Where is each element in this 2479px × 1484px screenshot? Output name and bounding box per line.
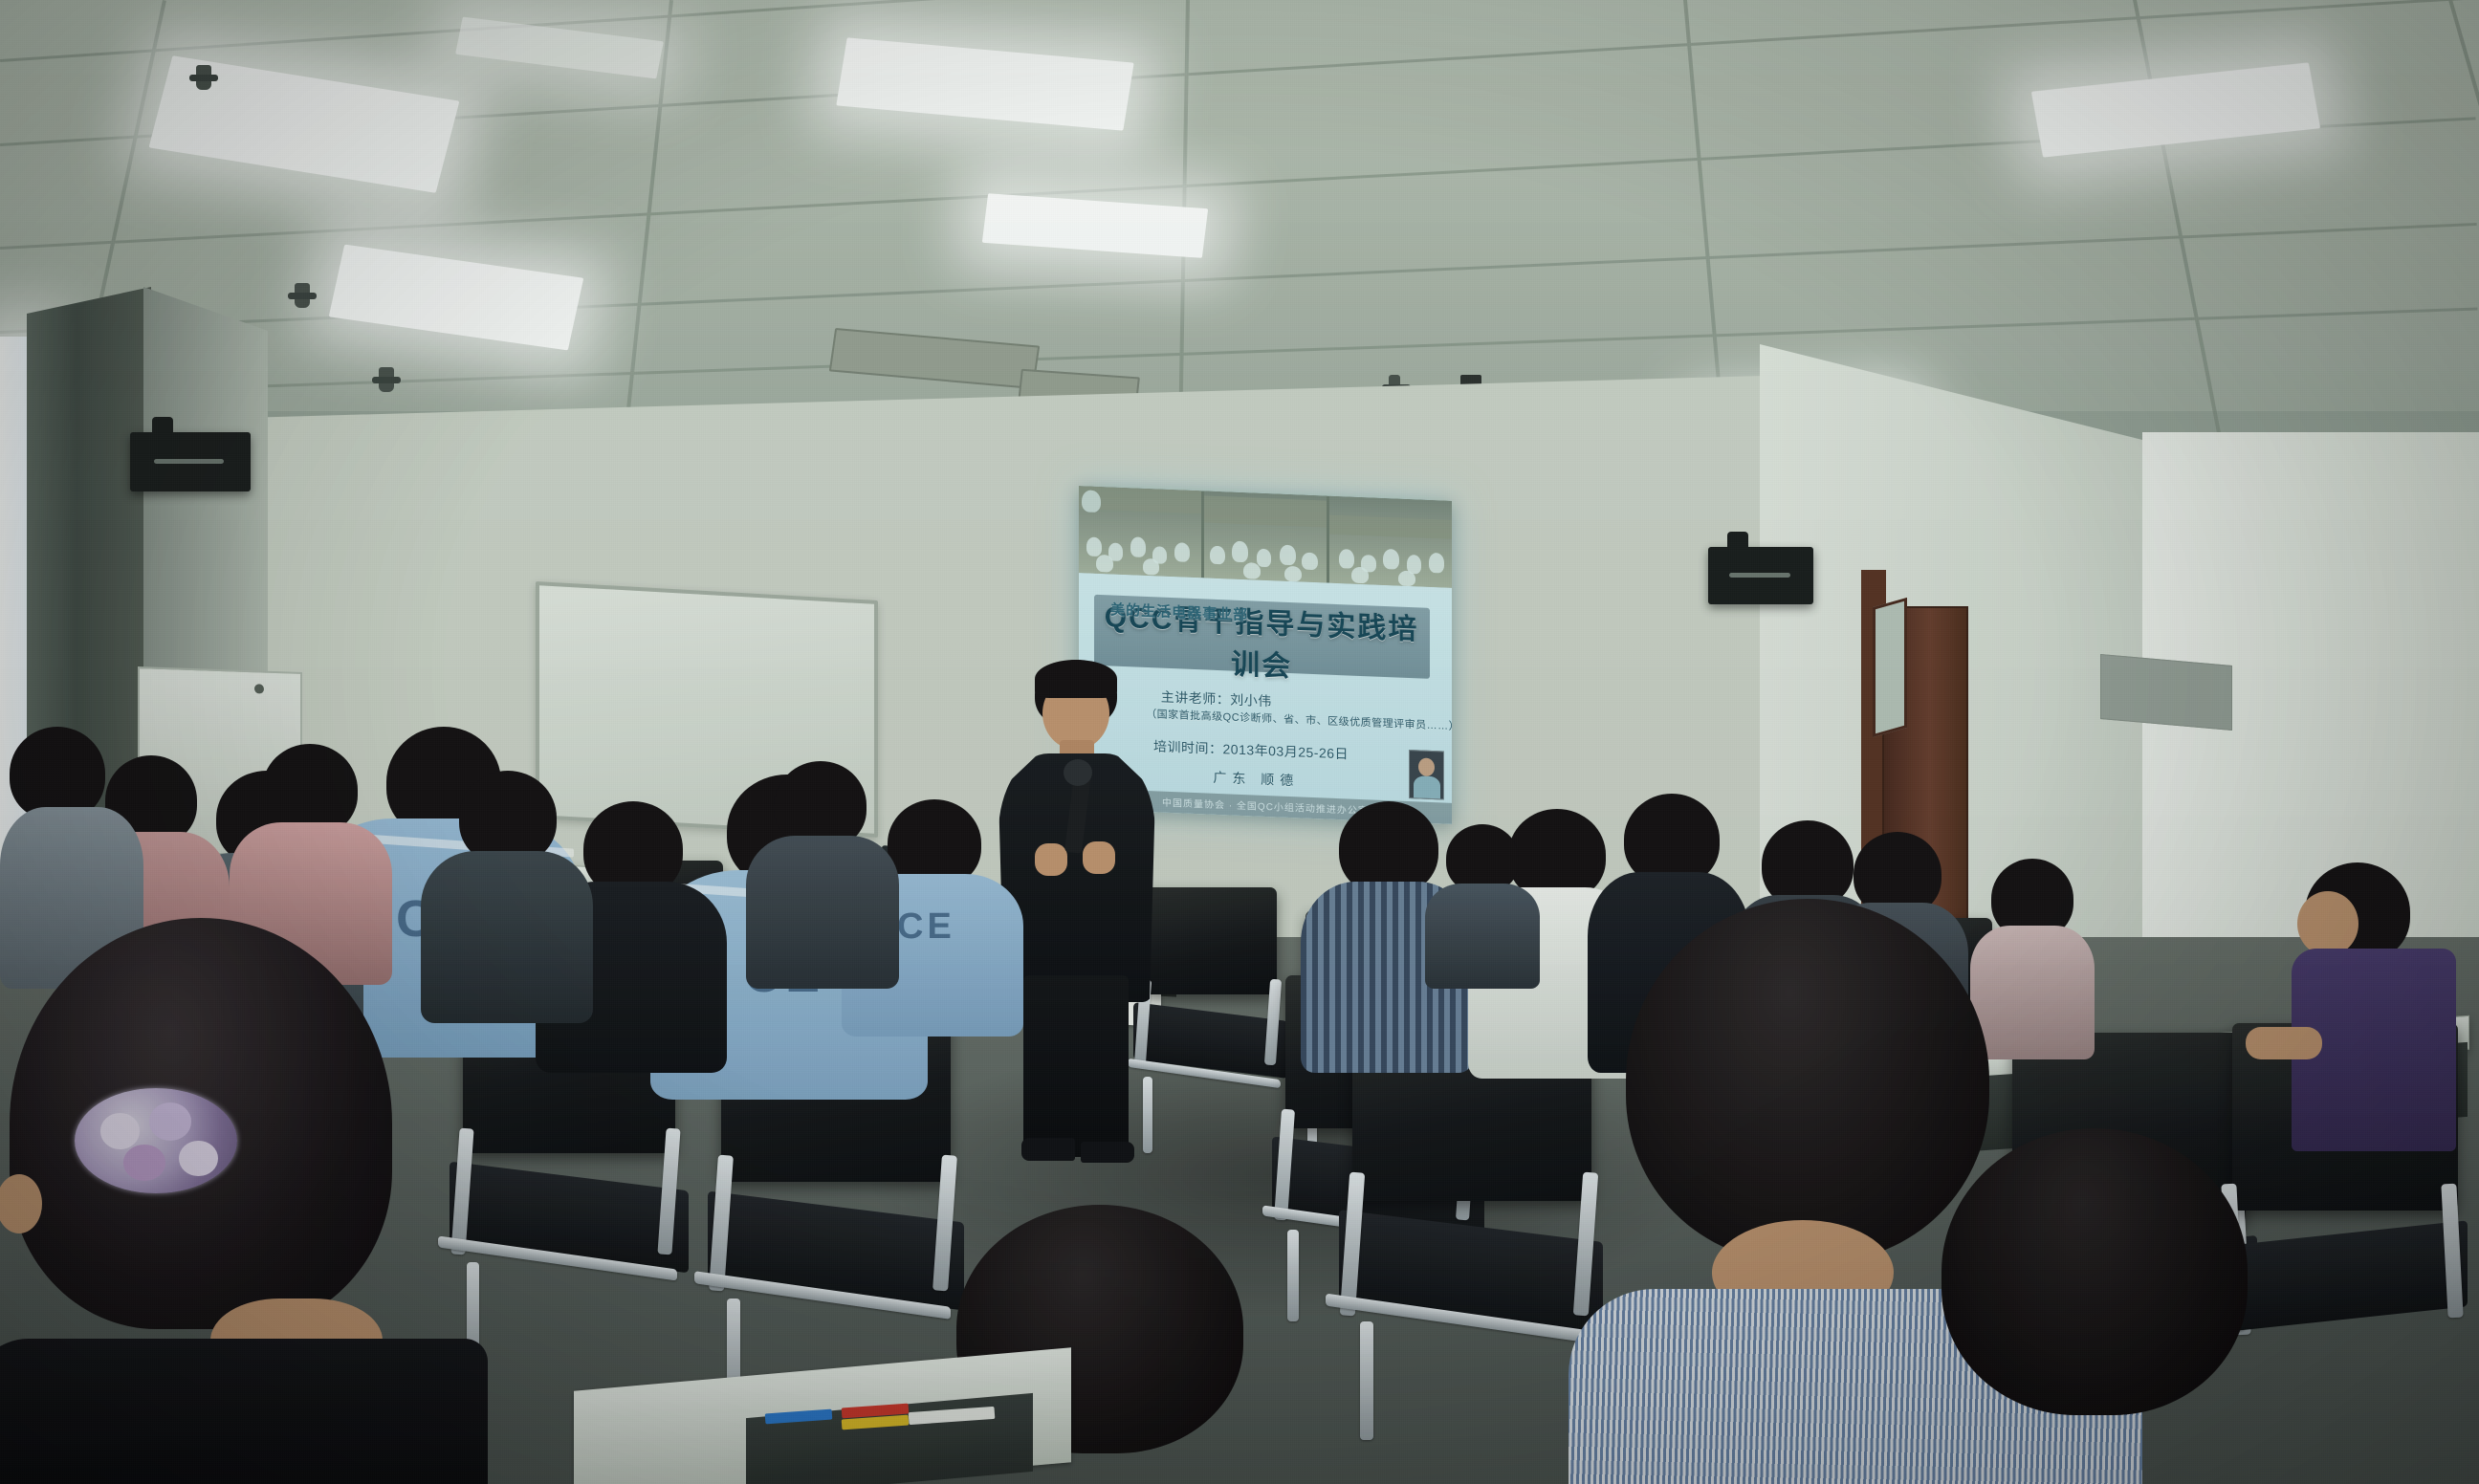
attendee-arm	[2246, 1027, 2322, 1059]
attendee-center-4	[1425, 824, 1540, 977]
door-window	[1873, 598, 1907, 737]
wall-speaker-right	[1708, 547, 1813, 604]
wall-gray-panel	[2100, 654, 2232, 731]
slide-credentials-line: （国家首批高级QC诊断师、省、市、区级优质管理评审员……）	[1146, 706, 1452, 733]
speaker-grille	[154, 459, 224, 464]
attendee-face	[2297, 891, 2358, 956]
slide-location-line: 广东 顺德	[1213, 767, 1299, 790]
slide-photo-3	[1329, 496, 1452, 588]
slide-photo-1	[1079, 486, 1201, 578]
attendee-left-10	[746, 761, 899, 971]
ceiling-tile-grid	[0, 0, 2479, 411]
presenter-hair	[1035, 660, 1117, 698]
microphone-head	[1064, 759, 1092, 786]
slide-speaker-portrait	[1409, 750, 1444, 800]
foreground-head	[1942, 1128, 2248, 1415]
presenter-right-hand	[1083, 841, 1115, 874]
attendee-top	[746, 836, 899, 989]
attendee-far-right-polo	[2292, 862, 2464, 1149]
cabinet-handle[interactable]	[254, 684, 264, 693]
foreground-attendee-woman	[0, 918, 660, 1484]
slide-photo-2	[1204, 491, 1327, 582]
slide-photo-strip	[1079, 486, 1452, 588]
attendee-top	[1425, 884, 1540, 989]
photo-scene: 美的生活电器事业部 QCC骨干指导与实践培训会 主讲老师：刘小伟 （国家首批高级…	[0, 0, 2479, 1484]
slide-date-line: 培训时间：2013年03月25-26日	[1153, 736, 1349, 763]
presenter-shoe	[1081, 1142, 1134, 1163]
sprinkler-head	[379, 367, 394, 392]
foreground-woman-black-top	[0, 1339, 488, 1484]
foreground-attendee-right	[1913, 1128, 2314, 1484]
presenter-trousers	[1023, 975, 1129, 1157]
ceiling	[0, 0, 2479, 411]
floral-hair-clip	[75, 1088, 237, 1193]
sprinkler-head	[196, 65, 211, 90]
uniform-ce-logo: CE	[897, 906, 955, 948]
presenter-left-hand	[1035, 843, 1067, 876]
sprinkler-head	[295, 283, 310, 308]
presenter-shoe	[1021, 1138, 1075, 1161]
wall-speaker-left	[130, 432, 251, 491]
speaker-grille	[1729, 573, 1790, 578]
